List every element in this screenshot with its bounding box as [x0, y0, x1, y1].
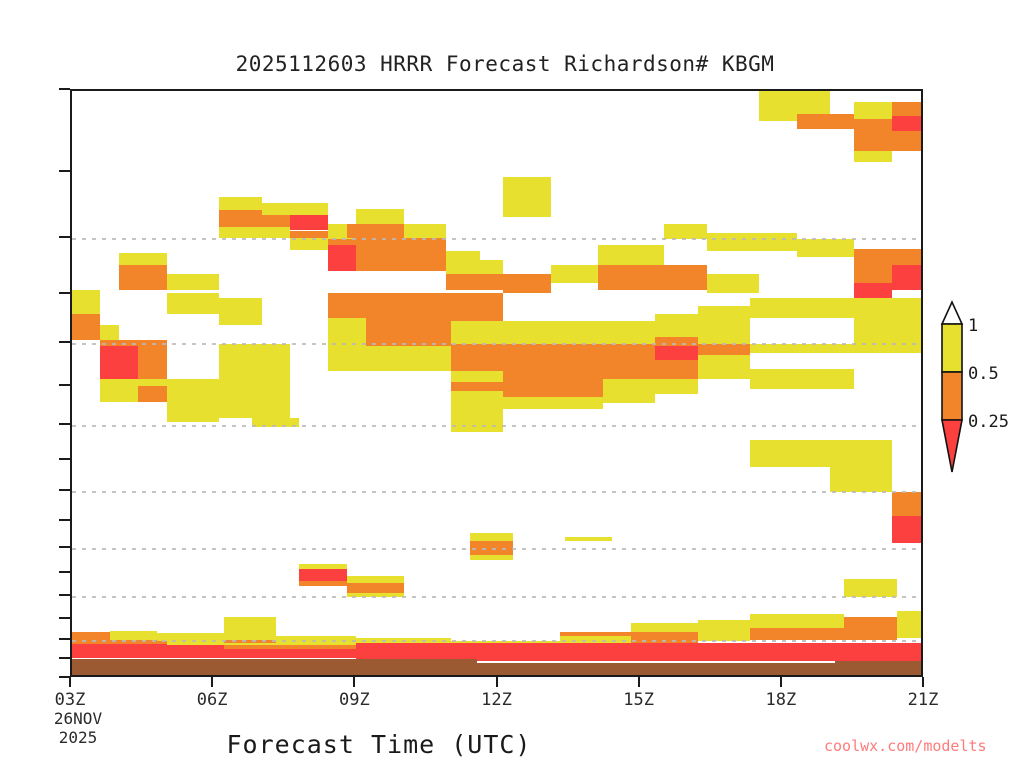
colorbar-band-yellow — [942, 324, 962, 372]
terrain-block — [745, 663, 791, 677]
terrain-block — [521, 663, 567, 677]
x-tick-mark-12Z — [496, 677, 498, 687]
x-tick-label-09Z: 09Z — [339, 690, 370, 710]
terrain-block — [431, 659, 477, 677]
legend-label-05: 0.5 — [968, 364, 999, 384]
watermark: coolwx.com/modelts — [824, 737, 987, 755]
terrain-block — [476, 663, 522, 677]
y-tick-mark-650 — [59, 519, 70, 521]
y-tick-mark-750 — [59, 571, 70, 573]
terrain-block — [790, 663, 836, 677]
x-tick-mark-03Z — [69, 677, 71, 687]
terrain-block — [611, 663, 657, 677]
y-tick-mark-700 — [59, 546, 70, 548]
colorbar-over-arrow — [942, 302, 962, 324]
terrain-block — [72, 659, 118, 677]
x-tick-label-12Z: 12Z — [481, 690, 512, 710]
x-tick-label-18Z: 18Z — [765, 690, 796, 710]
x-tick-mark-15Z — [638, 677, 640, 687]
y-tick-mark-900 — [59, 638, 70, 640]
plot-area — [70, 89, 923, 677]
y-tick-mark-600 — [59, 489, 70, 491]
terrain-block — [656, 663, 702, 677]
colorbar-under-arrow — [942, 420, 962, 472]
y-tick-mark-450 — [59, 384, 70, 386]
y-tick-mark-200 — [59, 88, 70, 90]
x-tick-label-03Z: 03Z — [55, 690, 86, 710]
x-tick-label-21Z: 21Z — [908, 690, 939, 710]
x-tick-label-15Z: 15Z — [623, 690, 654, 710]
terrain-block — [207, 659, 253, 677]
colorbar-shape — [938, 300, 1024, 475]
y-tick-mark-350 — [59, 292, 70, 294]
terrain-block — [252, 659, 298, 677]
terrain-block — [341, 659, 387, 677]
y-tick-mark-550 — [59, 458, 70, 460]
chart-canvas: 2025112603 HRRR Forecast Richardson# KBG… — [0, 0, 1024, 768]
y-tick-mark-800 — [59, 594, 70, 596]
page-title: 2025112603 HRRR Forecast Richardson# KBG… — [0, 52, 1010, 76]
terrain-block — [162, 659, 208, 677]
y-tick-mark-500 — [59, 423, 70, 425]
legend-label-1: 1 — [968, 316, 978, 336]
terrain-block — [880, 661, 923, 677]
x-tick-mark-21Z — [922, 677, 924, 687]
y-tick-mark-850 — [59, 617, 70, 619]
terrain-layer — [72, 91, 921, 675]
x-axis-date-line1: 26NOV — [36, 709, 120, 728]
colorbar-band-orange — [942, 372, 962, 420]
terrain-block — [566, 663, 612, 677]
y-tick-mark-950 — [59, 657, 70, 659]
y-tick-mark-250 — [59, 170, 70, 172]
terrain-block — [117, 659, 163, 677]
x-tick-mark-06Z — [211, 677, 213, 687]
terrain-block — [701, 663, 747, 677]
legend-label-025: 0.25 — [968, 412, 1009, 432]
x-tick-mark-18Z — [780, 677, 782, 687]
x-tick-mark-09Z — [353, 677, 355, 687]
y-tick-mark-300 — [59, 236, 70, 238]
y-tick-mark-400 — [59, 341, 70, 343]
colorbar-legend: 1 0.5 0.25 — [938, 300, 1024, 475]
x-tick-label-06Z: 06Z — [197, 690, 228, 710]
terrain-block — [386, 659, 432, 677]
terrain-block — [296, 659, 342, 677]
terrain-block — [835, 661, 881, 677]
